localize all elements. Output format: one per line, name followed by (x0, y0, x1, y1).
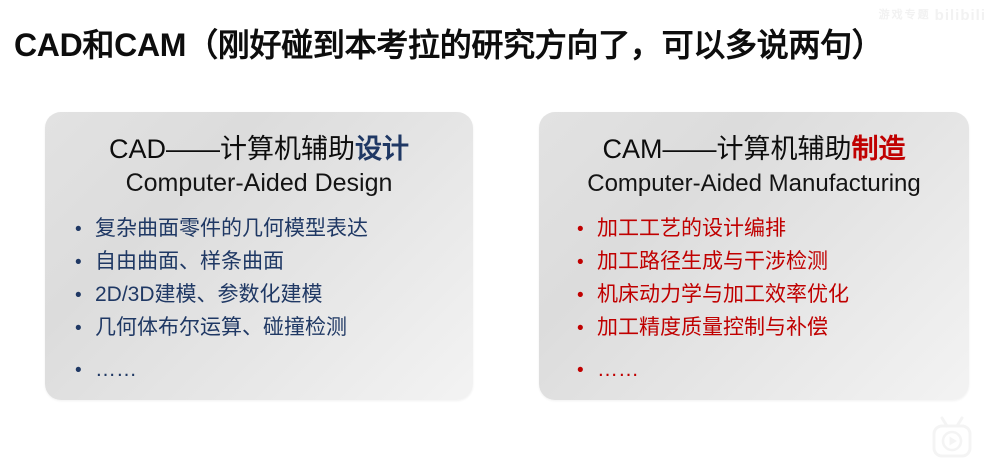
card-cam-subheading: Computer-Aided Manufacturing (539, 168, 969, 199)
list-item: • 自由曲面、样条曲面 (75, 246, 473, 279)
list-item-label: …… (597, 354, 639, 386)
list-item-label: 加工路径生成与干涉检测 (597, 246, 828, 278)
list-item: • 加工工艺的设计编排 (577, 213, 969, 246)
bullet-icon: • (75, 214, 95, 246)
card-cad-bullet-list: • 复杂曲面零件的几何模型表达 • 自由曲面、样条曲面 • 2D/3D建模、参数… (45, 213, 473, 387)
card-cad-heading-accent: 设计 (355, 134, 409, 164)
bullet-icon: • (577, 280, 597, 312)
list-item-label: 加工工艺的设计编排 (597, 213, 786, 245)
card-cad-heading-plain: CAD——计算机辅助 (109, 134, 355, 164)
list-item: • 加工精度质量控制与补偿 (577, 312, 969, 345)
card-cam-bullet-list: • 加工工艺的设计编排 • 加工路径生成与干涉检测 • 机床动力学与加工效率优化… (539, 213, 969, 387)
bullet-icon: • (577, 247, 597, 279)
watermark-channel-label: 游戏专题 (879, 9, 931, 21)
list-item: • 2D/3D建模、参数化建模 (75, 279, 473, 312)
list-item: • 机床动力学与加工效率优化 (577, 279, 969, 312)
list-item: • 加工路径生成与干涉检测 (577, 246, 969, 279)
watermark-brand-label: bilibili (935, 7, 986, 24)
list-item-label: 加工精度质量控制与补偿 (597, 312, 828, 344)
card-cam: CAM——计算机辅助制造 Computer-Aided Manufacturin… (539, 112, 969, 400)
list-item: • 复杂曲面零件的几何模型表达 (75, 213, 473, 246)
slide-canvas: CAD和CAM（刚好碰到本考拉的研究方向了，可以多说两句） 游戏专题bilibi… (0, 0, 1000, 474)
card-cad-subheading: Computer-Aided Design (45, 168, 473, 199)
list-item-label: 机床动力学与加工效率优化 (597, 279, 849, 311)
bullet-icon: • (577, 355, 597, 387)
list-item-label: 自由曲面、样条曲面 (95, 246, 284, 278)
card-cad-heading: CAD——计算机辅助设计 (45, 132, 473, 166)
bullet-icon: • (577, 313, 597, 345)
page-title: CAD和CAM（刚好碰到本考拉的研究方向了，可以多说两句） (14, 22, 974, 68)
card-cam-heading: CAM——计算机辅助制造 (539, 132, 969, 166)
list-item-label: 复杂曲面零件的几何模型表达 (95, 213, 368, 245)
bilibili-tv-play-logo-icon (926, 414, 978, 460)
card-cam-heading-accent: 制造 (852, 134, 906, 164)
bullet-icon: • (75, 280, 95, 312)
list-item: • …… (577, 354, 969, 387)
card-cam-heading-plain: CAM——计算机辅助 (603, 134, 852, 164)
bullet-icon: • (577, 214, 597, 246)
bilibili-watermark: 游戏专题bilibili (879, 6, 986, 24)
list-item-label: 2D/3D建模、参数化建模 (95, 279, 323, 311)
bullet-icon: • (75, 355, 95, 387)
bullet-icon: • (75, 313, 95, 345)
list-item-label: …… (95, 354, 137, 386)
list-item: • 几何体布尔运算、碰撞检测 (75, 312, 473, 345)
card-cad: CAD——计算机辅助设计 Computer-Aided Design • 复杂曲… (45, 112, 473, 400)
list-item-label: 几何体布尔运算、碰撞检测 (95, 312, 347, 344)
bullet-icon: • (75, 247, 95, 279)
list-item: • …… (75, 354, 473, 387)
